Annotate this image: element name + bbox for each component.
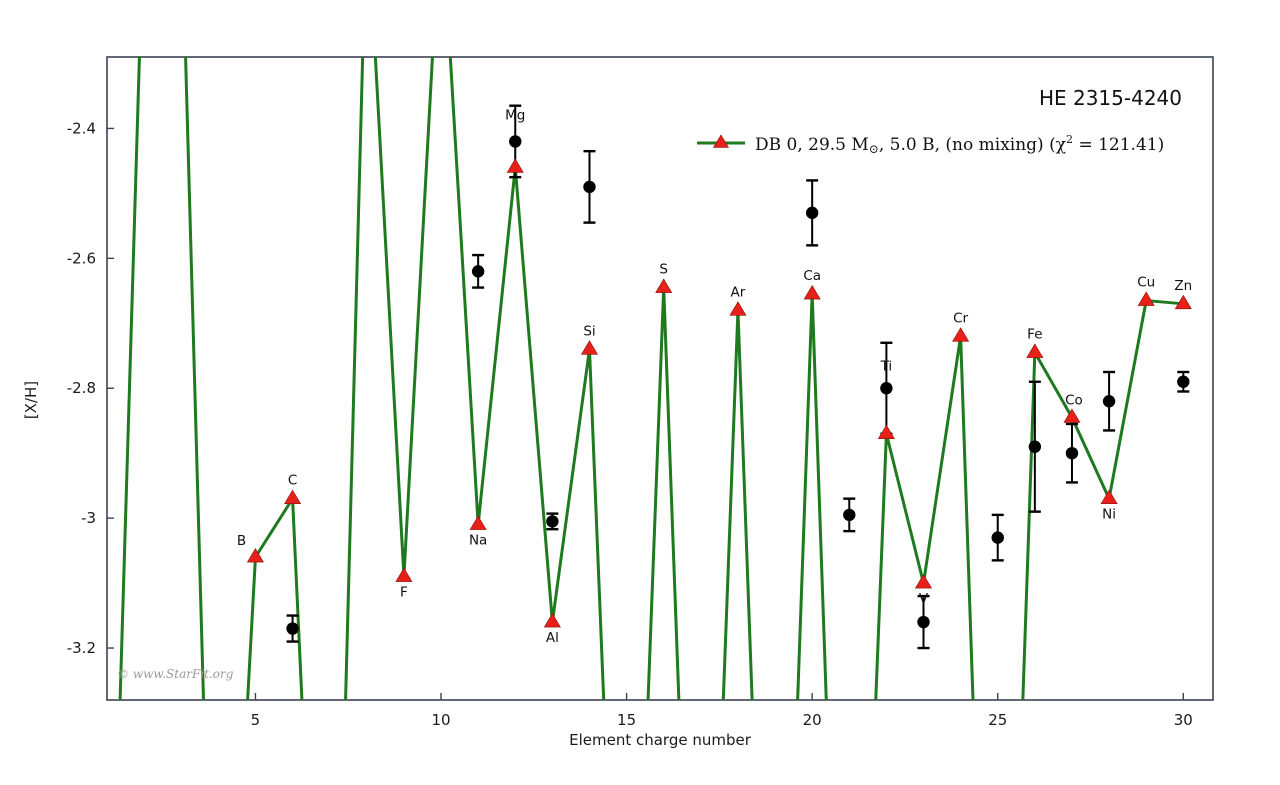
observed-data-point (917, 616, 929, 628)
model-marker-Ni (1101, 490, 1117, 504)
observed-data-point (806, 207, 818, 219)
observed-data-point (286, 622, 298, 634)
errorbar-point (992, 515, 1004, 560)
element-label-Ni: Ni (1102, 507, 1116, 523)
watermark: © www.StarFit.org (117, 667, 234, 681)
legend-triangle-up-marker (714, 135, 729, 148)
observed-data-point (546, 515, 558, 527)
y-tick-label: -2.8 (67, 379, 96, 397)
model-marker-Cu (1138, 292, 1154, 306)
errorbar-point (1066, 424, 1078, 482)
errorbar-point (843, 499, 855, 531)
errorbar-point (1177, 372, 1189, 391)
model-marker-Na (470, 516, 486, 530)
x-tick-label: 30 (1174, 711, 1193, 729)
x-tick-label: 20 (803, 711, 822, 729)
y-tick-label: -3 (81, 509, 96, 527)
model-marker-Ar (730, 302, 746, 316)
model-marker-S (656, 279, 672, 293)
model-marker-V (916, 575, 932, 589)
abundance-plot: BCFNaMgAlSiSArCaTiVCrFeCoNiCuZn 51015202… (0, 0, 1280, 785)
x-tick-label: 25 (988, 711, 1007, 729)
errorbar-point (583, 151, 595, 222)
model-marker-Fe (1027, 344, 1043, 358)
model-marker-Cr (953, 328, 969, 342)
star-name-title: HE 2315-4240 (1039, 86, 1182, 110)
errorbar-point (806, 180, 818, 245)
errorbar-point (880, 343, 892, 434)
element-label-Mg: Mg (505, 107, 525, 123)
y-axis-title: [X/H] (22, 381, 40, 419)
model-marker-Si (581, 341, 597, 355)
observed-data-point (583, 181, 595, 193)
element-label-Ti: Ti (880, 359, 893, 375)
x-tick-label: 10 (431, 711, 450, 729)
y-tick-label: -3.2 (67, 639, 96, 657)
observed-data-point (1029, 440, 1041, 452)
legend: DB 0, 29.5 M⊙, 5.0 B, (no mixing) (χ2 = … (697, 133, 1164, 156)
element-label-Cu: Cu (1137, 275, 1155, 291)
legend-label: DB 0, 29.5 M⊙, 5.0 B, (no mixing) (χ2 = … (755, 133, 1164, 156)
observed-data-point (1066, 447, 1078, 459)
element-label-Ca: Ca (803, 268, 821, 284)
element-label-Si: Si (583, 323, 595, 339)
model-marker-series (247, 159, 1191, 627)
observed-data-point (509, 135, 521, 147)
model-line-series (107, 0, 1183, 785)
element-label-C: C (288, 473, 297, 489)
model-marker-C (285, 490, 301, 504)
observed-data-point (472, 265, 484, 277)
element-label-V: V (919, 591, 929, 607)
model-marker-Al (544, 614, 560, 628)
element-label-Co: Co (1065, 392, 1083, 408)
element-label-Fe: Fe (1027, 327, 1042, 343)
observed-errorbar-series (286, 106, 1189, 648)
element-label-Na: Na (469, 533, 487, 549)
model-marker-Co (1064, 409, 1080, 423)
figure-panel: BCFNaMgAlSiSArCaTiVCrFeCoNiCuZn 51015202… (0, 0, 1280, 785)
observed-data-point (1177, 376, 1189, 388)
x-tick-label: 15 (617, 711, 636, 729)
observed-data-point (1103, 395, 1115, 407)
model-marker-Ca (804, 286, 820, 300)
observed-data-point (880, 382, 892, 394)
element-label-S: S (659, 262, 668, 278)
x-tick-label: 5 (251, 711, 261, 729)
y-tick-label: -2.6 (67, 249, 96, 267)
errorbar-point (1103, 372, 1115, 430)
observed-data-point (992, 531, 1004, 543)
model-marker-Ti (878, 425, 894, 439)
model-marker-F (396, 568, 412, 582)
element-label-Al: Al (546, 630, 559, 646)
model-marker-Mg (507, 159, 523, 173)
model-abundance-line (107, 0, 1183, 785)
element-label-F: F (400, 585, 408, 601)
element-label-Ar: Ar (731, 284, 746, 300)
element-label-Zn: Zn (1174, 278, 1192, 294)
errorbar-point (472, 255, 484, 287)
observed-data-point (843, 509, 855, 521)
errorbar-point (546, 514, 558, 530)
element-label-B: B (237, 533, 246, 549)
element-label-Cr: Cr (953, 310, 968, 326)
y-tick-label: -2.4 (67, 119, 96, 137)
x-axis-title: Element charge number (569, 731, 752, 749)
